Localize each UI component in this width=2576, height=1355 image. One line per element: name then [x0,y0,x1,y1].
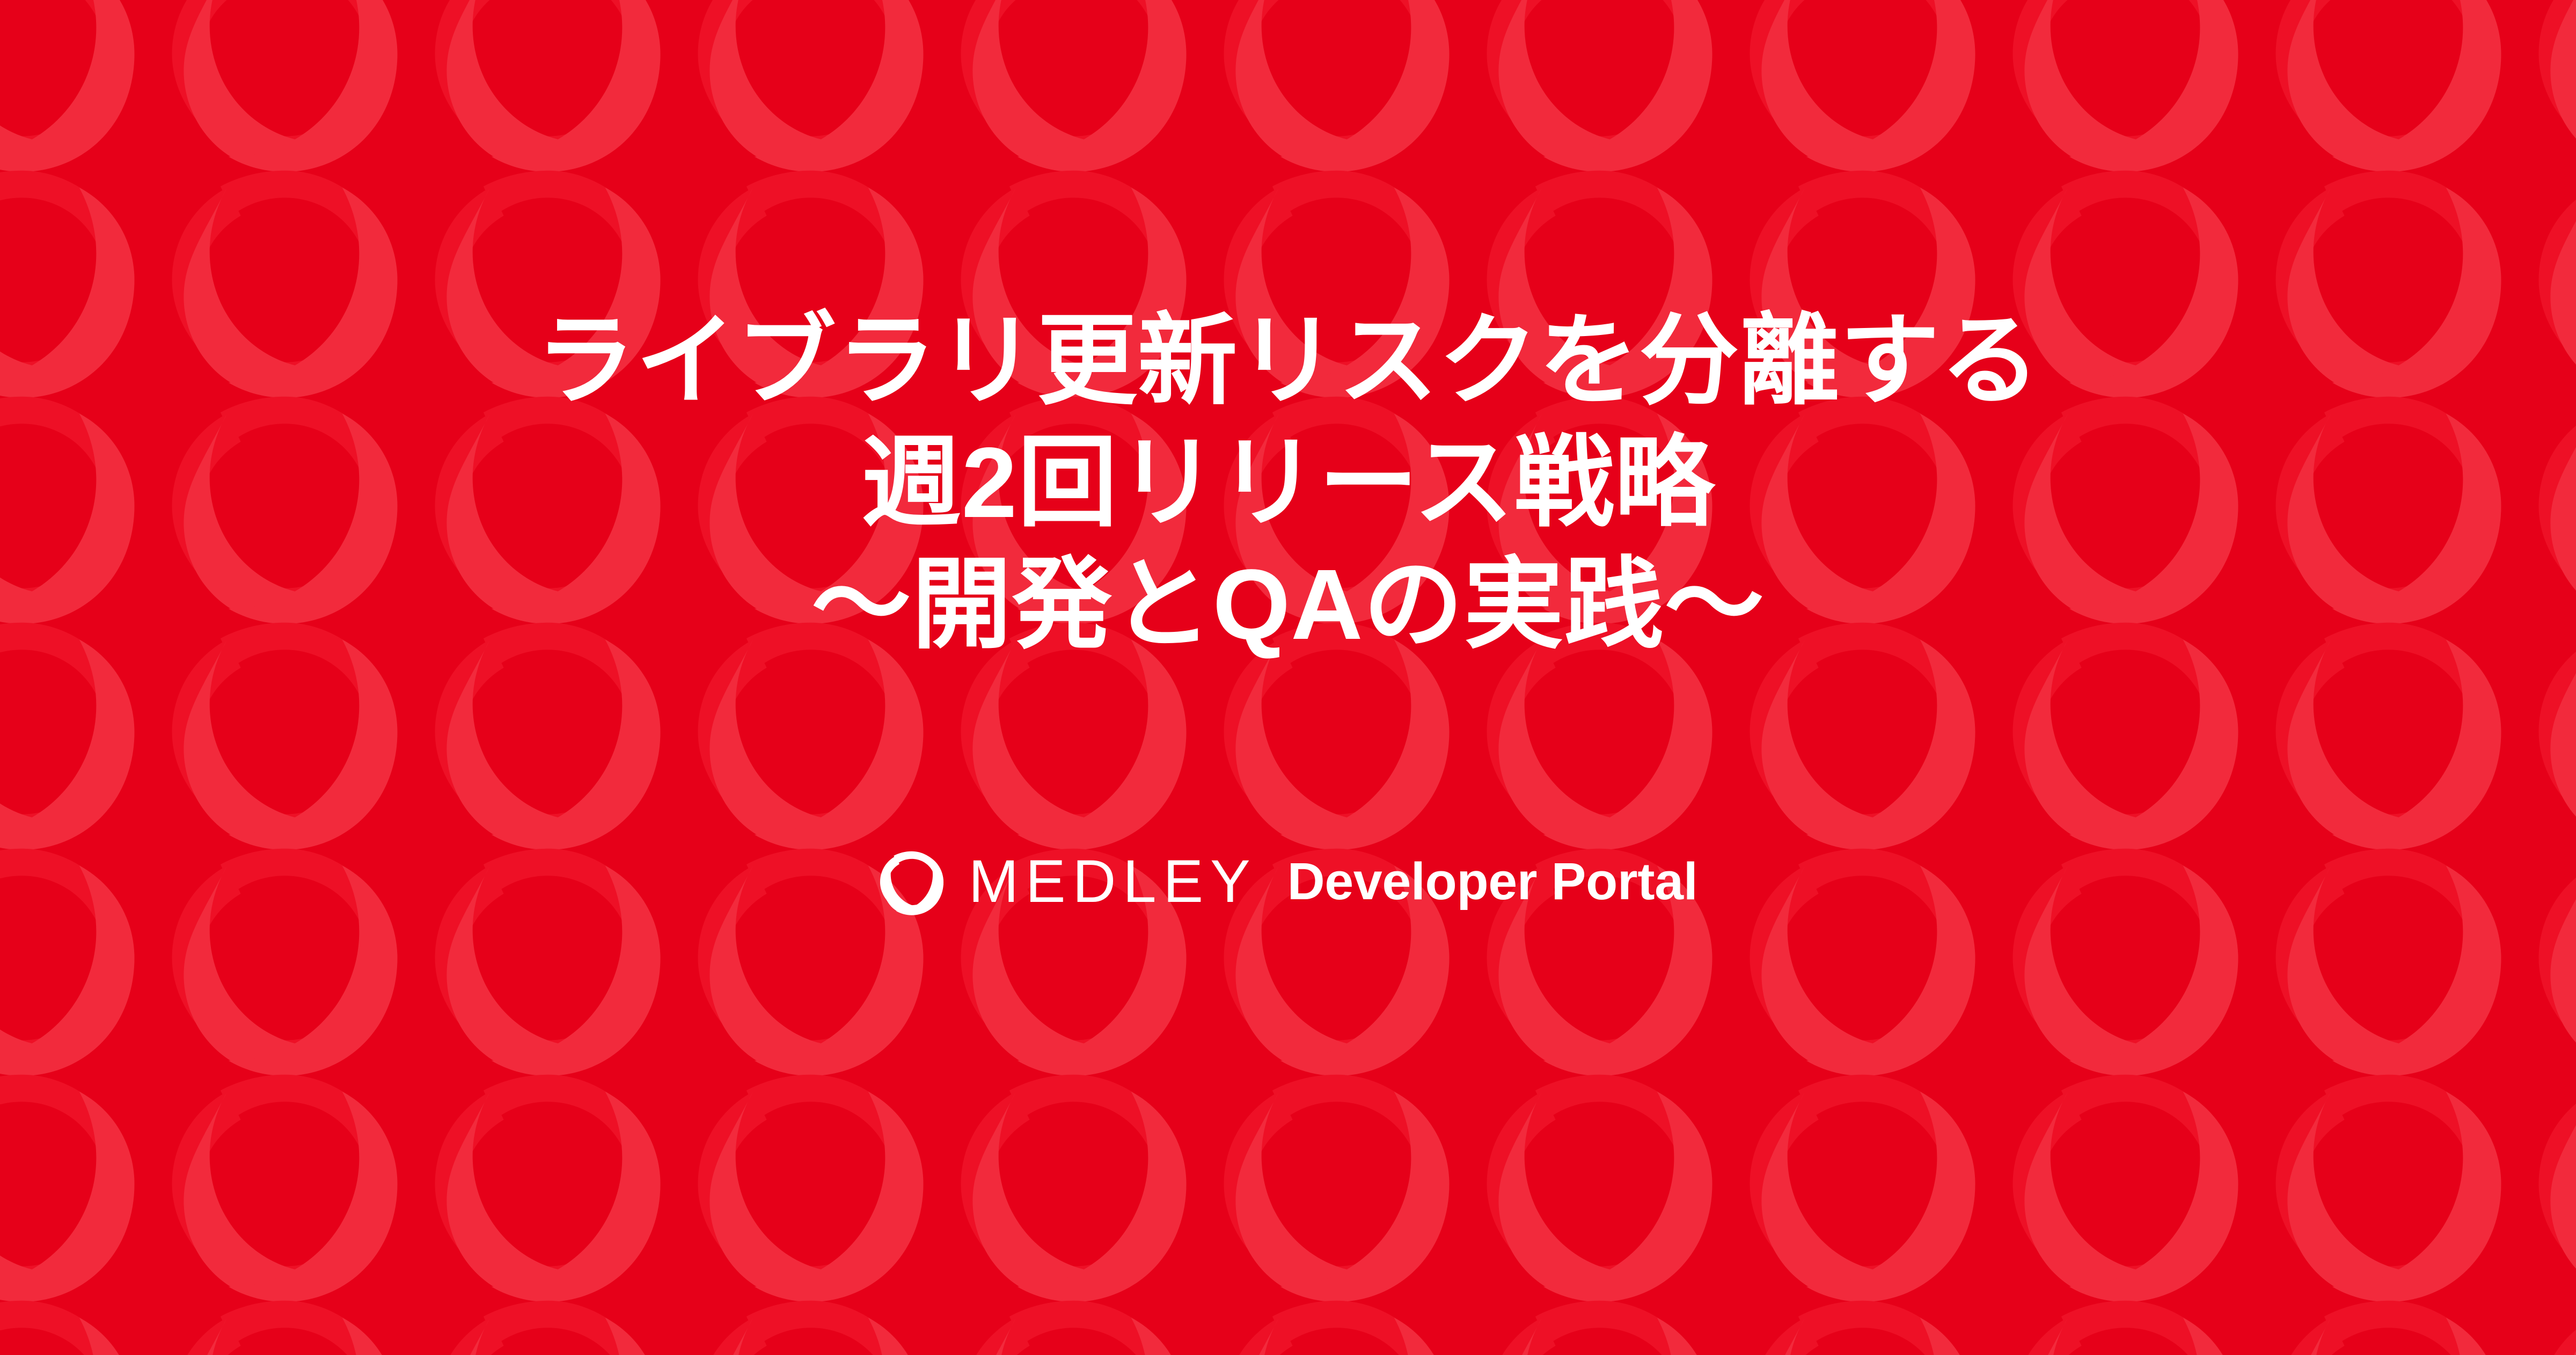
card-content: ライブラリ更新リスクを分離する 週2回リリース戦略 〜開発とQAの実践〜 MED… [0,0,2576,1355]
title-line-1: ライブラリ更新リスクを分離する [536,301,2040,422]
medley-swirl-logo-icon [879,849,945,915]
title-line-3: 〜開発とQAの実践〜 [811,544,1765,666]
og-image-card: ライブラリ更新リスクを分離する 週2回リリース戦略 〜開発とQAの実践〜 MED… [0,0,2576,1355]
medley-wordmark: MEDLEY [969,851,1257,912]
brand-lockup: MEDLEY Developer Portal [879,848,1698,915]
page-title: ライブラリ更新リスクを分離する 週2回リリース戦略 〜開発とQAの実践〜 [0,301,2576,666]
developer-portal-label: Developer Portal [1287,855,1698,907]
title-line-2: 週2回リリース戦略 [861,422,1715,544]
